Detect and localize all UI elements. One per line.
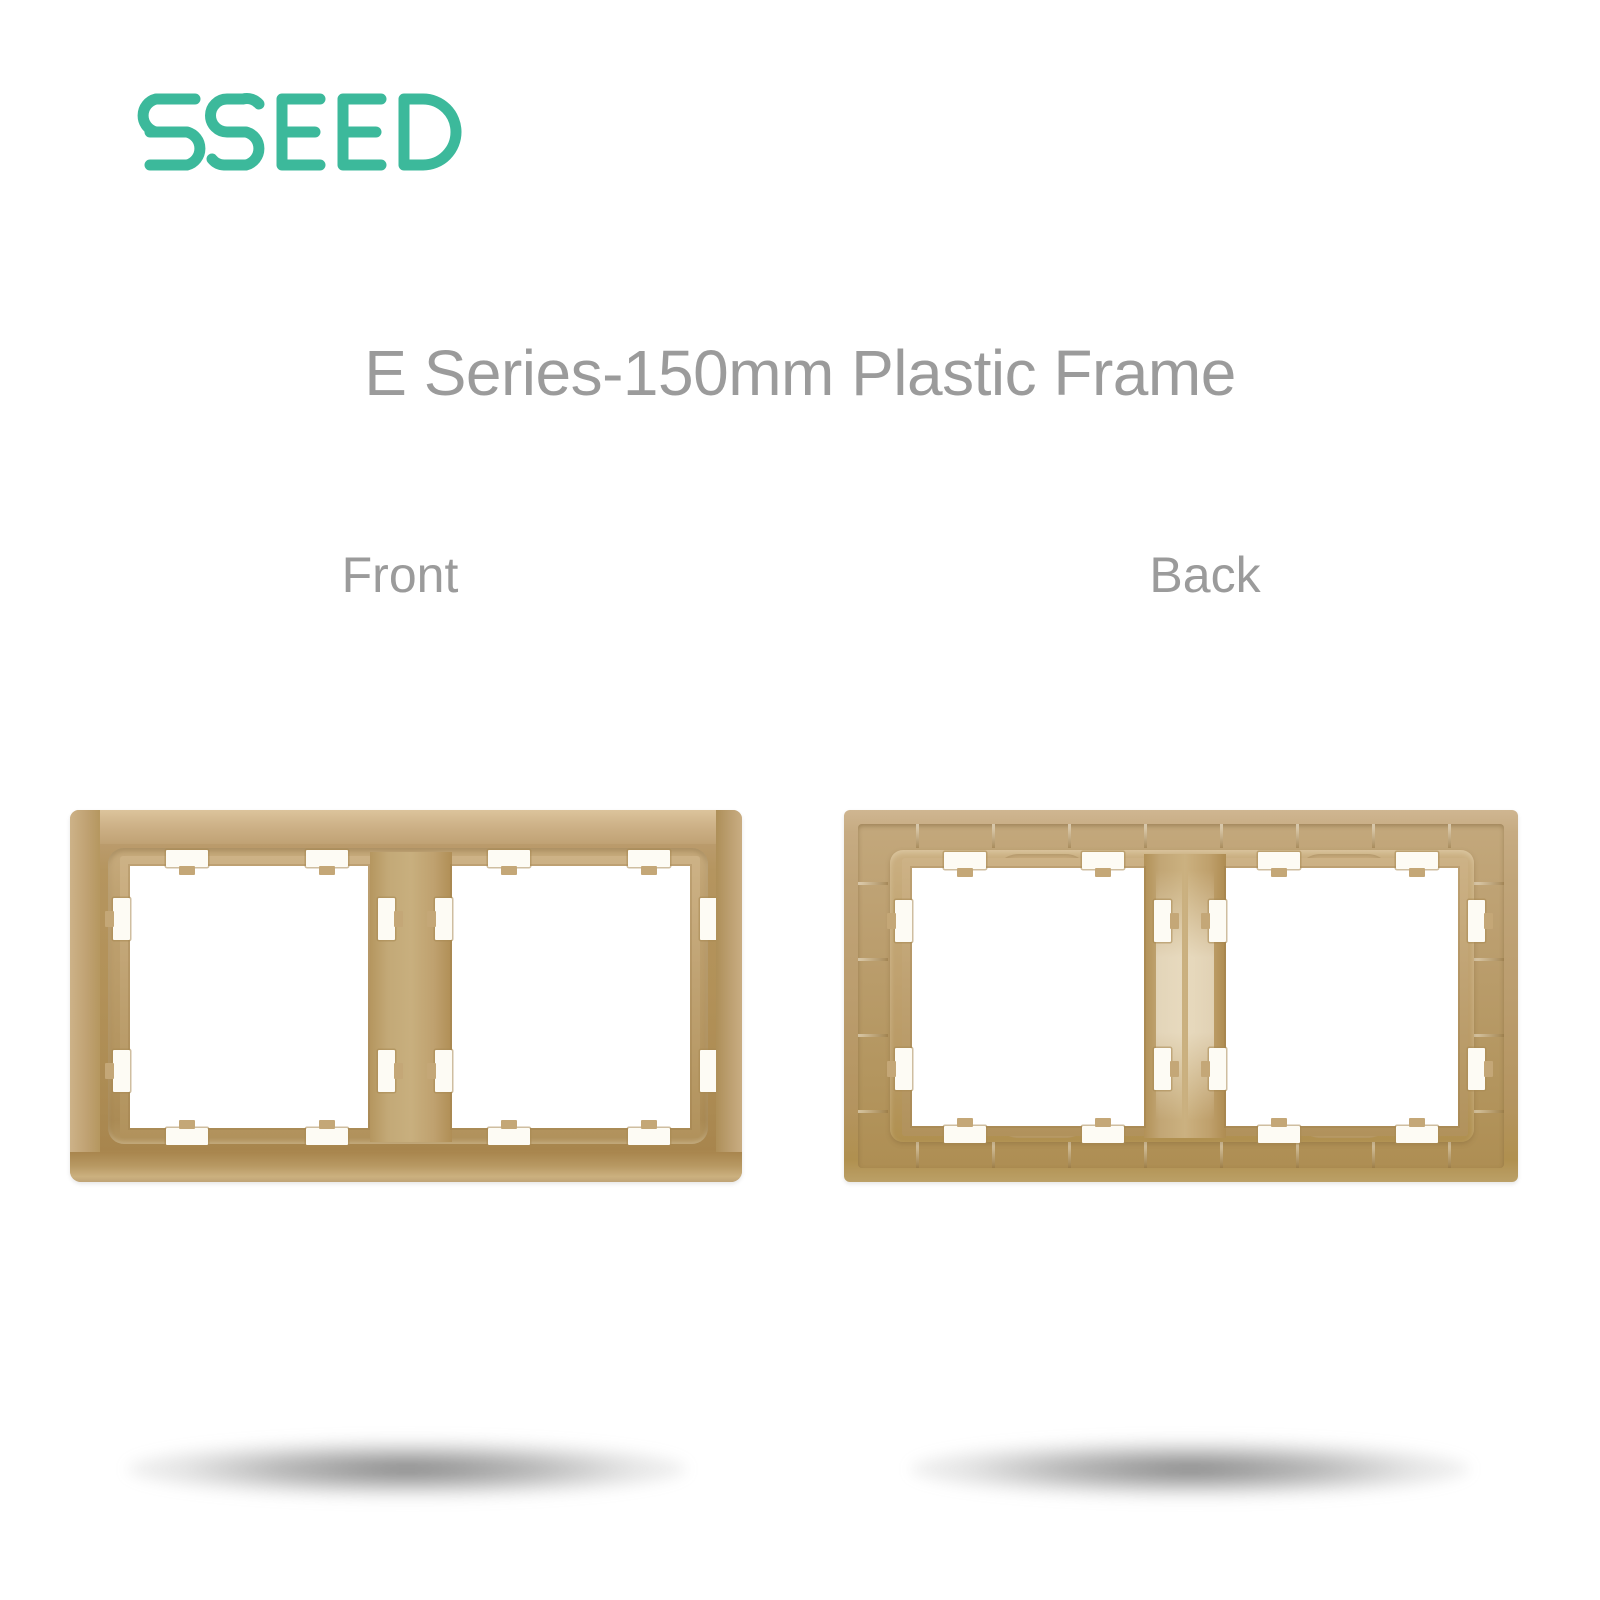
back-rib-bottom-4 [1144, 1142, 1147, 1168]
front-aperture-right [452, 866, 690, 1128]
back-rib-top-4 [1144, 824, 1147, 848]
back-clip-right-bottom-2 [1396, 1126, 1438, 1143]
front-clip-left-side-1 [113, 898, 130, 940]
front-clip-right-top-2 [628, 850, 670, 867]
front-clip-left-top-2 [306, 850, 348, 867]
back-rib-right-3 [1474, 1034, 1504, 1037]
back-rib-bottom-8 [1448, 1142, 1451, 1168]
back-rib-bottom-6 [1296, 1142, 1299, 1168]
front-center-divider [370, 852, 452, 1142]
back-clip-right-side-3 [1468, 900, 1485, 942]
back-rib-top-8 [1448, 824, 1451, 848]
front-bevel-top [70, 810, 742, 844]
front-clip-left-top-1 [166, 850, 208, 867]
front-clip-right-side-3 [700, 898, 717, 940]
page-title: E Series-150mm Plastic Frame [0, 336, 1600, 410]
back-aperture-left [912, 868, 1144, 1126]
front-clip-left-side-4 [378, 1050, 395, 1092]
frame-back-body [844, 810, 1518, 1182]
bseed-wordmark-logo [132, 92, 462, 172]
view-label-back: Back [1035, 546, 1375, 604]
view-label-front: Front [230, 546, 570, 604]
back-center-divider [1144, 854, 1226, 1138]
front-clip-left-side-3 [378, 898, 395, 940]
front-clip-right-side-2 [435, 1050, 452, 1092]
back-aperture-right [1226, 868, 1458, 1126]
back-clip-left-side-1 [895, 900, 912, 942]
back-rib-bottom-1 [916, 1142, 919, 1168]
back-clip-right-top-2 [1396, 852, 1438, 869]
front-clip-left-bottom-1 [166, 1128, 208, 1145]
back-rib-top-6 [1296, 824, 1299, 848]
front-drop-shadow [127, 1440, 687, 1498]
front-bevel-right [716, 810, 742, 1182]
back-rib-bottom-2 [992, 1142, 995, 1168]
back-rib-left-4 [858, 1110, 888, 1113]
back-rib-right-4 [1474, 1110, 1504, 1113]
back-clip-right-side-4 [1468, 1048, 1485, 1090]
front-clip-left-bottom-2 [306, 1128, 348, 1145]
back-clip-left-bottom-1 [944, 1126, 986, 1143]
back-clip-left-side-3 [1154, 900, 1171, 942]
back-rib-top-1 [916, 824, 919, 848]
front-aperture-left [130, 866, 368, 1128]
front-bevel-left [70, 810, 100, 1182]
back-rib-bottom-5 [1220, 1142, 1223, 1168]
back-rib-top-7 [1372, 824, 1375, 848]
front-clip-left-side-2 [113, 1050, 130, 1092]
back-rib-top-5 [1220, 824, 1223, 848]
back-rib-left-2 [858, 958, 888, 961]
back-rib-top-3 [1068, 824, 1071, 848]
product-front-view [62, 800, 752, 1200]
back-rib-top-2 [992, 824, 995, 848]
back-rib-bottom-7 [1372, 1142, 1375, 1168]
back-rib-left-3 [858, 1034, 888, 1037]
back-rib-right-1 [1474, 882, 1504, 885]
back-rib-bottom-3 [1068, 1142, 1071, 1168]
back-clip-left-bottom-2 [1082, 1126, 1124, 1143]
front-clip-right-bottom-2 [628, 1128, 670, 1145]
front-clip-right-top-1 [488, 850, 530, 867]
back-clip-left-top-2 [1082, 852, 1124, 869]
back-clip-right-side-1 [1209, 900, 1226, 942]
front-clip-right-side-1 [435, 898, 452, 940]
back-clip-right-side-2 [1209, 1048, 1226, 1090]
back-clip-left-top-1 [944, 852, 986, 869]
front-bevel-bottom [70, 1152, 742, 1182]
back-clip-left-side-2 [895, 1048, 912, 1090]
brand-logo [132, 92, 462, 172]
product-back-view [840, 800, 1540, 1200]
frame-front-body [70, 810, 742, 1182]
back-clip-right-bottom-1 [1258, 1126, 1300, 1143]
front-clip-right-side-4 [700, 1050, 717, 1092]
back-drop-shadow [910, 1440, 1470, 1498]
back-rib-left-1 [858, 882, 888, 885]
front-clip-right-bottom-1 [488, 1128, 530, 1145]
back-rib-right-2 [1474, 958, 1504, 961]
back-clip-right-top-1 [1258, 852, 1300, 869]
back-clip-left-side-4 [1154, 1048, 1171, 1090]
